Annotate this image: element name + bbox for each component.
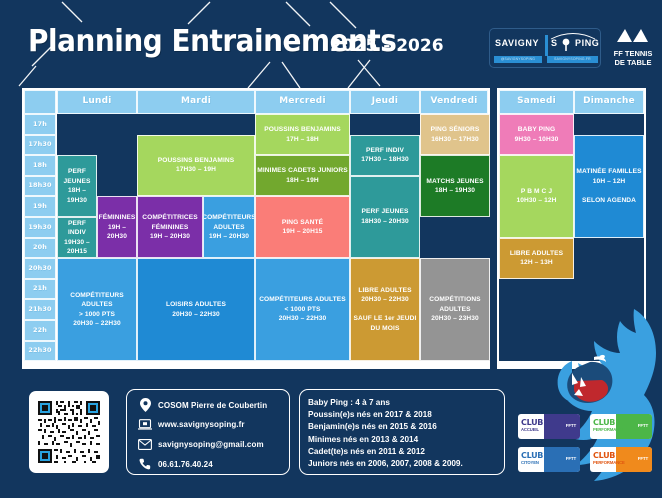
- club-badge: CLUB PERFORMANCE FFTT: [590, 447, 652, 472]
- time-column-header: [24, 90, 56, 114]
- session-block[interactable]: MATCHS JEUNES18H – 19H30: [420, 155, 490, 217]
- contact-address-text: COSOM Pierre de Coubertin: [158, 401, 267, 410]
- badge-sub: PERFORMANCE: [593, 460, 625, 465]
- time-label-20h: 20h: [24, 238, 56, 259]
- session-label: BABY PING: [518, 125, 555, 135]
- day-header-dimanche: Dimanche: [574, 90, 644, 114]
- session-time: 18H – 19H: [286, 176, 318, 186]
- session-time: 19H – 20H30: [99, 223, 135, 242]
- session-block[interactable]: PING SANTÉ19H – 20H15: [255, 196, 350, 258]
- session-block[interactable]: LIBRE ADULTES12H – 13H: [499, 238, 574, 279]
- day-header-mardi: Mardi: [137, 90, 255, 114]
- session-time: < 1000 PTS: [284, 305, 320, 315]
- badge-sub: PERFORMANCE: [593, 427, 625, 432]
- session-time: 18H30 – 20H30: [361, 217, 409, 227]
- session-label: PING SÉNIORS: [431, 125, 480, 135]
- session-time: 20H30 – 22H30: [361, 295, 409, 305]
- session-block[interactable]: PERF INDIV17H30 – 18H30: [350, 135, 420, 176]
- badge-fftt-mark: FFTT: [566, 423, 576, 428]
- time-label-18h30: 18h30: [24, 176, 56, 197]
- session-label: PERF INDIV: [366, 146, 404, 156]
- session-time: 19H – 20H15: [283, 227, 323, 237]
- time-label-22h30: 22h30: [24, 341, 56, 362]
- age-categories-box: Baby Ping : 4 à 7 ans Poussin(e)s nés en…: [299, 389, 505, 475]
- session-label: PERF JEUNES: [59, 167, 95, 186]
- session-label: MATINÉE FAMILLES: [576, 167, 641, 177]
- club-badges: CLUB ACCUEIL FFTT CLUB PERFORMANCE FFTT …: [518, 414, 656, 476]
- badge-fftt-mark: FFTT: [638, 456, 648, 461]
- age-line: Baby Ping : 4 à 7 ans: [308, 397, 504, 409]
- badge-fftt-mark: FFTT: [638, 423, 648, 428]
- time-label-20h30: 20h30: [24, 258, 56, 279]
- session-time: > 1000 PTS: [79, 310, 115, 320]
- contact-row-phone[interactable]: 06.61.76.40.24: [137, 458, 213, 470]
- age-line: Cadet(te)s nés en 2011 & 2012: [308, 446, 504, 458]
- session-time: 19H – 20H30: [209, 232, 249, 242]
- poster-header: Planning Entrainements 2025 - 2026 SAVIG…: [0, 0, 662, 88]
- time-label-text: 20h30: [28, 264, 51, 274]
- time-label-text: 19h: [33, 202, 47, 212]
- day-header-vendredi: Vendredi: [420, 90, 488, 114]
- spacer: [608, 186, 610, 196]
- logo-sub1: @SAVIGNYSOPING: [494, 56, 542, 63]
- time-label-text: 18h30: [28, 181, 51, 191]
- badge-word: CLUB: [593, 418, 615, 427]
- time-label-text: 19h30: [28, 223, 51, 233]
- day-header-label: Lundi: [82, 97, 111, 107]
- laptop-icon: [137, 419, 153, 430]
- session-block[interactable]: LOISIRS ADULTES20H30 – 22H30: [137, 258, 255, 361]
- day-header-label: Mercredi: [279, 97, 326, 107]
- time-label-text: 22h: [33, 326, 47, 336]
- time-label-text: 20h: [33, 243, 47, 253]
- session-time: 12H – 13H: [520, 258, 552, 268]
- session-label: LIBRE ADULTES: [358, 286, 411, 296]
- session-time: 17H30 – 19H: [176, 165, 216, 175]
- session-block[interactable]: POUSSINS BENJAMINS17H – 18H: [255, 114, 350, 155]
- club-logo: SAVIGNY S PING @SAVIGNYSOPING SAVIGNYSOP…: [489, 28, 601, 68]
- age-line: Juniors nés en 2006, 2007, 2008 & 2009.: [308, 458, 504, 470]
- session-block[interactable]: PERF JEUNES18H30 – 20H30: [350, 176, 420, 258]
- fftt-logo: FF TENNIS DE TABLE: [612, 27, 654, 69]
- badge-sub: CITOYEN: [521, 460, 539, 465]
- session-block[interactable]: COMPÉTITEURS ADULTES19H – 20H30: [203, 196, 255, 258]
- session-label: FÉMININES: [99, 213, 136, 223]
- badge-word: CLUB: [521, 418, 543, 427]
- day-header-lundi: Lundi: [57, 90, 137, 114]
- session-label: COMPÉTITRICES FÉMININES: [139, 213, 201, 232]
- session-block[interactable]: PING SÉNIORS16H30 – 17H30: [420, 114, 490, 155]
- badge-word: CLUB: [521, 451, 543, 460]
- badge-fftt-mark: FFTT: [566, 456, 576, 461]
- session-time: 17H30 – 18H30: [361, 155, 409, 165]
- session-block[interactable]: FÉMININES19H – 20H30: [97, 196, 137, 258]
- badge-word: CLUB: [593, 451, 615, 460]
- time-label-17h30: 17h30: [24, 135, 56, 156]
- session-block[interactable]: MINIMES CADETS JUNIORS18H – 19H: [255, 155, 350, 196]
- time-label-21h: 21h: [24, 279, 56, 300]
- session-label: MINIMES CADETS JUNIORS: [257, 166, 348, 176]
- session-label: P B M C J: [521, 187, 552, 197]
- logo-net-shape: [545, 35, 548, 56]
- session-time: 16H30 – 17H30: [431, 135, 479, 145]
- club-badge: CLUB CITOYEN FFTT: [518, 447, 580, 472]
- session-label: COMPÉTITEURS ADULTES: [203, 213, 255, 232]
- session-note: SAUF LE 1er JEUDI: [354, 314, 417, 324]
- session-label: LOISIRS ADULTES: [166, 300, 226, 310]
- session-label: LIBRE ADULTES: [510, 249, 563, 259]
- session-label: PERF JEUNES: [362, 207, 409, 217]
- time-label-21h30: 21h30: [24, 299, 56, 320]
- envelope-icon: [137, 439, 153, 450]
- fftt-line1: FF TENNIS: [612, 49, 654, 58]
- contact-row-website[interactable]: www.savignysoping.fr: [137, 419, 245, 430]
- qr-code-icon[interactable]: [36, 399, 102, 465]
- session-time: 20H30 – 23H30: [431, 314, 479, 324]
- contact-row-address: COSOM Pierre de Coubertin: [137, 398, 267, 412]
- time-label-17h: 17h: [24, 114, 56, 135]
- season-label: 2025 - 2026: [330, 36, 444, 56]
- qr-code-box[interactable]: [29, 391, 109, 473]
- logo-subtext-right: SAVIGNYSOPING.FR: [547, 56, 598, 63]
- session-time: 19H30 – 20H15: [59, 238, 95, 257]
- session-block[interactable]: PERF INDIV19H30 – 20H15: [57, 217, 97, 258]
- time-label-text: 17h: [33, 120, 47, 130]
- badge-sub: ACCUEIL: [521, 427, 539, 432]
- day-header-label: Mardi: [181, 97, 211, 107]
- day-header-jeudi: Jeudi: [350, 90, 420, 114]
- session-time: 18H – 19H30: [435, 186, 475, 196]
- session-block[interactable]: PERF JEUNES18H – 19H30: [57, 155, 97, 217]
- session-block[interactable]: POUSSINS BENJAMINS17H30 – 19H: [137, 135, 255, 197]
- session-note: DU MOIS: [371, 324, 400, 334]
- session-label: PERF INDIV: [59, 219, 95, 238]
- session-time2: 20H30 – 22H30: [73, 319, 121, 329]
- time-label-text: 21h: [33, 284, 47, 294]
- day-header-label: Vendredi: [430, 97, 477, 107]
- day-header-label: Samedi: [517, 97, 556, 107]
- session-time: 10H – 12H: [593, 177, 625, 187]
- fftt-mark-icon: [613, 27, 653, 44]
- session-label: COMPÉTITEURS ADULTES: [59, 291, 135, 310]
- time-label-19h30: 19h30: [24, 217, 56, 238]
- session-time2: 20H30 – 22H30: [279, 314, 327, 324]
- session-label: COMPÉTITIONS ADULTES: [422, 295, 488, 314]
- session-label: POUSSINS BENJAMINS: [158, 156, 235, 166]
- session-block[interactable]: LIBRE ADULTES20H30 – 22H30 SAUF LE 1er J…: [350, 258, 420, 361]
- session-block[interactable]: COMPÉTITRICES FÉMININES19H – 20H30: [137, 196, 203, 258]
- planning-poster: Planning Entrainements 2025 - 2026 SAVIG…: [0, 0, 662, 498]
- session-block[interactable]: COMPÉTITIONS ADULTES20H30 – 23H30: [420, 258, 490, 361]
- location-pin-icon: [137, 398, 153, 412]
- age-line: Minimes nés en 2013 & 2014: [308, 434, 504, 446]
- time-label-text: 18h: [33, 161, 47, 171]
- session-label: PING SANTÉ: [282, 218, 323, 228]
- session-block[interactable]: COMPÉTITEURS ADULTES< 1000 PTS20H30 – 22…: [255, 258, 350, 361]
- age-line: Benjamin(e)s nés en 2015 & 2016: [308, 421, 504, 433]
- contact-row-email[interactable]: savignysoping@gmail.com: [137, 439, 264, 450]
- time-label-18h: 18h: [24, 155, 56, 176]
- session-label: COMPÉTITEURS ADULTES: [259, 295, 346, 305]
- logo-word-savigny: SAVIGNY: [495, 38, 539, 48]
- time-label-text: 22h30: [28, 346, 51, 356]
- time-label-22h: 22h: [24, 320, 56, 341]
- day-header-label: Jeudi: [372, 97, 398, 107]
- fftt-line2: DE TABLE: [612, 58, 654, 67]
- age-line: Poussin(e)s nés en 2017 & 2018: [308, 409, 504, 421]
- time-label-text: 17h30: [28, 140, 51, 150]
- contact-phone-text[interactable]: 06.61.76.40.24: [158, 460, 213, 469]
- session-time: 19H – 20H30: [150, 232, 190, 242]
- session-time: 18H – 19H30: [59, 186, 95, 205]
- time-label-19h: 19h: [24, 196, 56, 217]
- session-time: 20H30 – 22H30: [172, 310, 220, 320]
- session-note: SELON AGENDA: [582, 196, 636, 206]
- day-header-mercredi: Mercredi: [255, 90, 350, 114]
- session-label: POUSSINS BENJAMINS: [264, 125, 341, 135]
- session-time: 17H – 18H: [286, 135, 318, 145]
- logo-sub2: SAVIGNYSOPING.FR: [547, 56, 598, 63]
- session-time: 9H30 – 10H30: [515, 135, 559, 145]
- club-badge: CLUB ACCUEIL FFTT: [518, 414, 580, 439]
- club-badge: CLUB PERFORMANCE FFTT: [590, 414, 652, 439]
- spacer: [384, 305, 386, 315]
- contact-info-box: COSOM Pierre de Coubertin www.savignysop…: [126, 389, 290, 475]
- session-label: MATCHS JEUNES: [426, 177, 483, 187]
- time-label-text: 21h30: [28, 305, 51, 315]
- session-time: 10H30 – 12H: [517, 196, 557, 206]
- contact-email-text[interactable]: savignysoping@gmail.com: [158, 440, 264, 449]
- logo-arc-icon: [550, 31, 596, 40]
- day-header-label: Dimanche: [583, 97, 635, 107]
- phone-icon: [137, 458, 153, 470]
- session-block[interactable]: COMPÉTITEURS ADULTES> 1000 PTS20H30 – 22…: [57, 258, 137, 361]
- session-block[interactable]: MATINÉE FAMILLES10H – 12H SELON AGENDA: [574, 135, 644, 238]
- session-block[interactable]: BABY PING9H30 – 10H30: [499, 114, 574, 155]
- day-header-samedi: Samedi: [499, 90, 574, 114]
- logo-subtext-left: @SAVIGNYSOPING: [494, 56, 542, 63]
- contact-website-text[interactable]: www.savignysoping.fr: [158, 420, 245, 429]
- session-block[interactable]: P B M C J10H30 – 12H: [499, 155, 574, 237]
